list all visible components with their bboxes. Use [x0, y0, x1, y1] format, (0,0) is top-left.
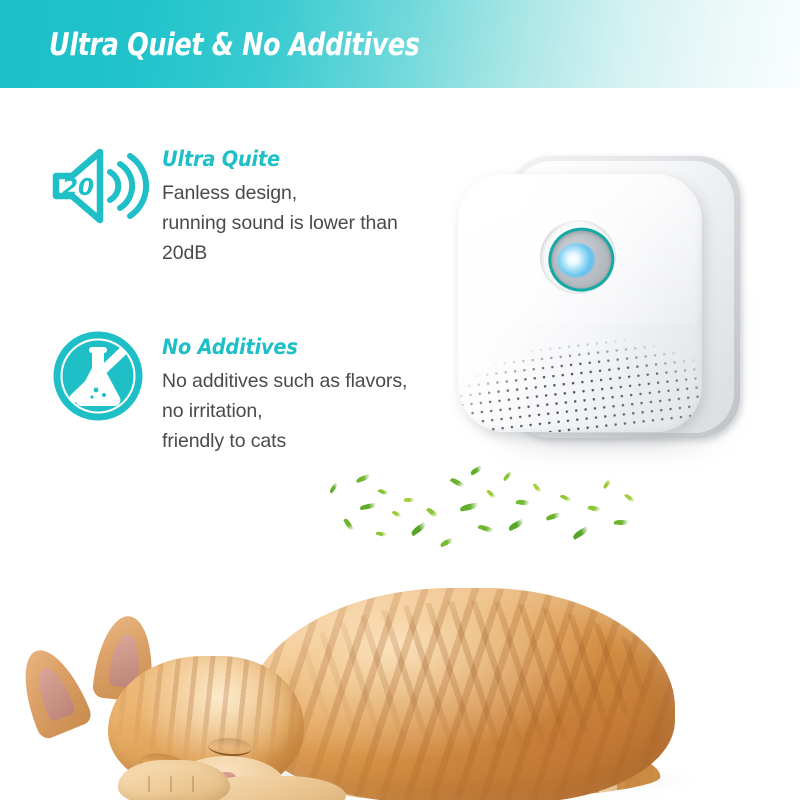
leaf-shape	[624, 493, 635, 504]
product-device-image	[452, 152, 762, 462]
cat-toe-line	[148, 776, 150, 792]
leaf-shape	[470, 465, 483, 475]
feature-title: Ultra Quite	[162, 146, 438, 172]
product-feature-page: Ultra Quiet & No Additives 20 Ultra Quit…	[0, 0, 800, 800]
leaf-shape	[343, 518, 354, 532]
header-banner: Ultra Quiet & No Additives	[0, 0, 800, 88]
cat-paw-front	[118, 760, 230, 800]
no-additives-flask-icon	[52, 330, 144, 427]
cat-body	[245, 588, 675, 800]
sleeping-cat-photo	[0, 560, 800, 800]
floating-green-leaves	[320, 452, 640, 562]
leaf-shape	[360, 503, 377, 510]
leaf-shape	[572, 526, 590, 540]
leaf-shape	[614, 519, 628, 525]
leaf-shape	[602, 479, 612, 489]
leaf-shape	[376, 531, 387, 538]
feature-ultra-quiet-text: Ultra Quite Fanless design, running soun…	[162, 146, 462, 268]
leaf-shape	[507, 519, 524, 531]
leaf-shape	[502, 471, 513, 482]
power-indicator-light	[536, 216, 620, 299]
leaf-shape	[440, 538, 454, 548]
leaf-shape	[450, 477, 464, 489]
leaf-shape	[478, 523, 494, 533]
cat-toe-line	[192, 776, 194, 792]
feature-body: No additives such as flavors, no irritat…	[162, 366, 482, 456]
device-front-cover	[458, 174, 702, 432]
leaf-shape	[356, 474, 371, 483]
feature-no-additives-text: No Additives No additives such as flavor…	[162, 334, 482, 456]
feature-ultra-quiet: 20 Ultra Quite Fanless design, running s…	[52, 146, 432, 296]
leaf-shape	[460, 502, 479, 511]
cat-ear-left	[10, 641, 94, 742]
leaf-shape	[516, 499, 530, 507]
leaf-shape	[392, 510, 401, 519]
leaf-shape	[404, 497, 414, 502]
leaf-shape	[533, 483, 542, 494]
speaker-20db-icon: 20	[52, 146, 152, 231]
vent-dot-grid	[458, 324, 702, 432]
cat-ear-inner-left	[31, 663, 77, 723]
page-title: Ultra Quiet & No Additives	[49, 26, 420, 64]
cat-toe-line	[170, 776, 172, 792]
leaf-shape	[426, 506, 438, 518]
leaf-shape	[588, 504, 601, 513]
leaf-shape	[546, 512, 561, 520]
cat-body-stripes-secondary	[288, 601, 649, 752]
leaf-shape	[486, 489, 495, 499]
feature-body: Fanless design, running sound is lower t…	[162, 178, 462, 268]
leaf-shape	[378, 488, 389, 496]
leaf-shape	[410, 522, 427, 536]
leaf-shape	[560, 493, 571, 502]
leaf-shape	[329, 482, 339, 493]
indicator-led-glow	[555, 241, 597, 279]
perforated-vent-panel	[458, 324, 702, 432]
speaker-icon-db-value: 20	[62, 175, 94, 201]
feature-title: No Additives	[162, 334, 456, 360]
